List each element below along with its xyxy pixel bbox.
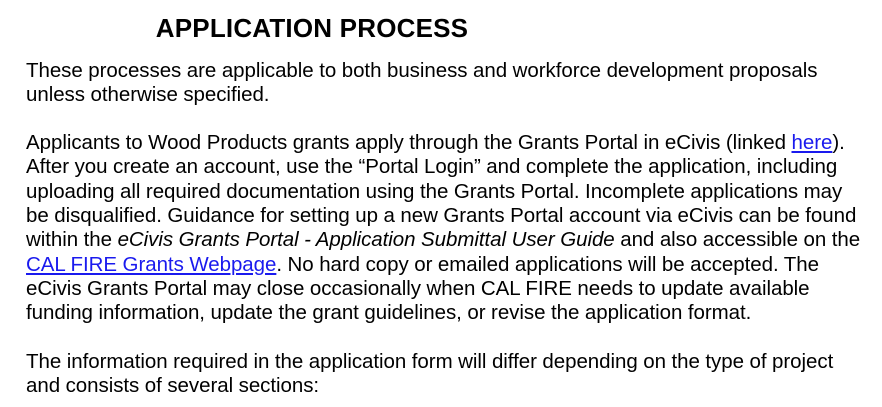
here-link[interactable]: here [792, 131, 833, 154]
paragraph-text-segment: Applicants to Wood Products grants apply… [26, 131, 792, 154]
document-page: APPLICATION PROCESS These processes are … [0, 0, 882, 407]
paragraph-intro: These processes are applicable to both b… [26, 59, 862, 108]
paragraph-application-instructions: Applicants to Wood Products grants apply… [26, 131, 862, 325]
document-body: These processes are applicable to both b… [0, 59, 882, 399]
page-title: APPLICATION PROCESS [0, 0, 882, 43]
cal-fire-grants-webpage-link[interactable]: CAL FIRE Grants Webpage [26, 253, 276, 276]
paragraph-application-form-sections: The information required in the applicat… [26, 350, 862, 399]
user-guide-title: eCivis Grants Portal - Application Submi… [118, 228, 615, 251]
paragraph-text-segment: and also accessible on the [615, 228, 860, 251]
